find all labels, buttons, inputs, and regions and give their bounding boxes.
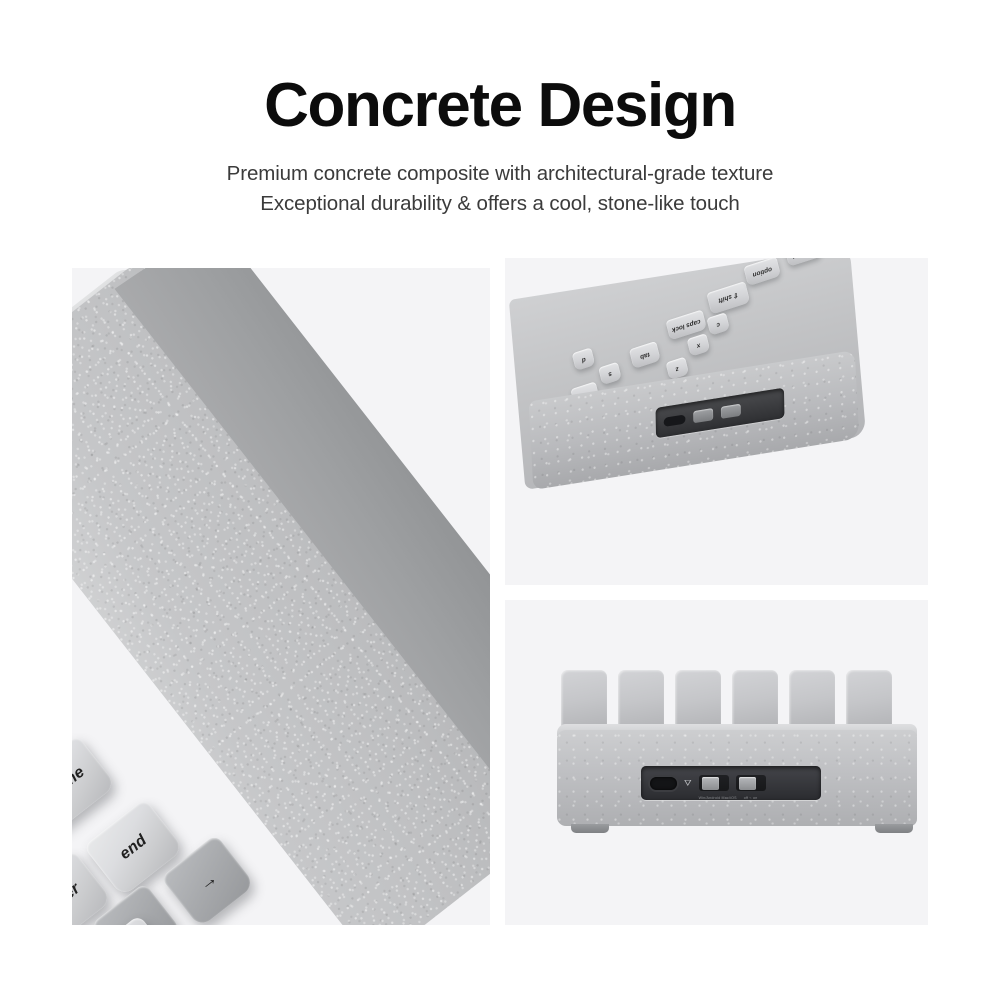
- keyboard-angled-render: l☼pgupkspacepgdn\home↵ enterend↑→⇧ shift…: [72, 268, 490, 925]
- connection-mode-switch[interactable]: [693, 408, 713, 423]
- keycap-legend: end: [117, 832, 151, 864]
- header: Concrete Design Premium concrete composi…: [0, 74, 1000, 219]
- keycap-legend: home: [72, 763, 89, 804]
- connection-mode-switch[interactable]: Win/Android Mac/iOS: [699, 775, 729, 791]
- rear-port-strip-photo: esctabcaps lock⇧ shiftoptioncontrolzasxd…: [505, 258, 928, 585]
- keycap-profile-1: [561, 670, 607, 730]
- usb-c-port-icon: [664, 414, 686, 427]
- keycap-shift: ⇧ shift: [706, 281, 750, 315]
- keycap-home: home: [72, 735, 116, 833]
- keycap-tab: tab: [629, 341, 661, 369]
- keycap-profile-2: [618, 670, 664, 730]
- keycap-legend: ⇧ shift: [717, 291, 739, 305]
- keycap-legend: s: [607, 370, 612, 378]
- rear-view-render: esctabcaps lock⇧ shiftoptioncontrolzasxd…: [505, 258, 928, 585]
- keycap-legend: ↵ enter: [72, 878, 84, 925]
- keycap-c: c: [706, 312, 730, 336]
- keycap-control: control: [784, 258, 822, 267]
- keycap-profile-5: [789, 670, 835, 730]
- angled-keyboard-corner-photo: l☼pgupkspacepgdn\home↵ enterend↑→⇧ shift…: [72, 268, 490, 925]
- switch-thumb: [739, 777, 756, 790]
- case-foot-left: [571, 824, 609, 833]
- subtitle-line-1: Premium concrete composite with architec…: [0, 159, 1000, 189]
- switch-thumb: [702, 777, 719, 790]
- keycap-legend: d: [581, 355, 587, 363]
- side-port-recess: ⛛ Win/Android Mac/iOS off ⌁ on: [641, 766, 821, 800]
- keycap-legend: →: [194, 867, 221, 895]
- usb-c-port[interactable]: [650, 777, 677, 790]
- keycap-legend: c: [716, 320, 721, 328]
- keycap-legend: option: [752, 265, 773, 278]
- keycap-d: d: [572, 347, 596, 371]
- keycap-profile-3: [675, 670, 721, 730]
- product-feature-page: Concrete Design Premium concrete composi…: [0, 0, 1000, 1000]
- keycap-legend: z: [675, 365, 680, 373]
- case-foot-right: [875, 824, 913, 833]
- power-switch[interactable]: [721, 404, 741, 419]
- keycap-legend: caps lock: [671, 317, 701, 333]
- subtitle-block: Premium concrete composite with architec…: [0, 159, 1000, 219]
- side-keycap-row: [561, 670, 928, 732]
- connection-mode-switch-label: Win/Android Mac/iOS: [699, 796, 729, 800]
- keycap-x: x: [687, 333, 711, 357]
- side-view-render: ⛛ Win/Android Mac/iOS off ⌁ on: [505, 600, 928, 925]
- side-profile-port-photo: ⛛ Win/Android Mac/iOS off ⌁ on: [505, 600, 928, 925]
- keycap-profile-6: [846, 670, 892, 730]
- power-switch[interactable]: off ⌁ on: [736, 775, 766, 791]
- keycap-legend: tab: [639, 350, 650, 360]
- usb-icon: ⛛: [684, 778, 692, 789]
- keycap-s: s: [598, 362, 622, 386]
- page-title: Concrete Design: [0, 74, 1000, 137]
- power-switch-label: off ⌁ on: [736, 796, 766, 800]
- keycap-legend: control: [792, 258, 815, 259]
- keycap-profile-4: [732, 670, 778, 730]
- keycap-option: option: [743, 258, 781, 286]
- subtitle-line-2: Exceptional durability & offers a cool, …: [0, 189, 1000, 219]
- keycap-legend: x: [696, 341, 701, 349]
